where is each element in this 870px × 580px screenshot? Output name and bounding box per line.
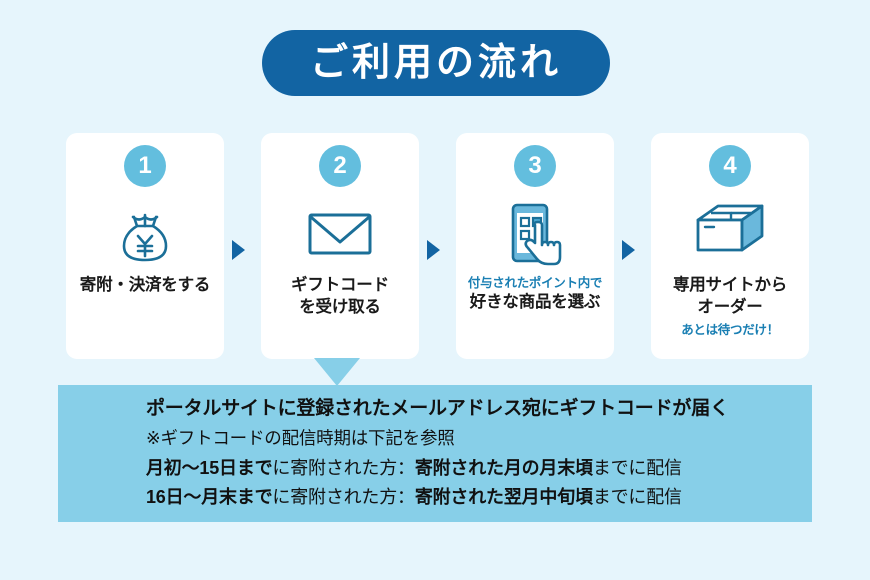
arrow-right-icon-3 — [622, 240, 635, 260]
page-title: ご利用の流れ — [310, 44, 562, 82]
step-card-2[interactable]: 2 ギフトコード を受け取る — [261, 133, 419, 359]
step-labels-3: 付与されたポイント内で 好きな商品を選ぶ — [456, 275, 614, 314]
note-line-2: ※ギフトコードの配信時期は下記を参照 — [146, 430, 812, 448]
step-label-3: 好きな商品を選ぶ — [470, 292, 600, 314]
note-banner: ポータルサイトに登録されたメールアドレス宛にギフトコードが届く ※ギフトコードの… — [58, 385, 812, 522]
smartphone-hand-tap-icon — [499, 195, 571, 271]
step-number-badge-2: 2 — [319, 145, 361, 187]
money-bag-yen-icon — [110, 195, 180, 271]
step-labels-4: 専用サイトから オーダー あとは待つだけ！ — [651, 275, 809, 338]
page-title-pill: ご利用の流れ — [262, 30, 610, 96]
step-labels-2: ギフトコード を受け取る — [261, 275, 419, 319]
note-line-3-normal-b: までに配信 — [593, 458, 682, 478]
note-line-4-bold-a: 16日〜月末まで — [146, 487, 272, 507]
note-line-3-bold-b: 寄附された月の月末頃 — [415, 458, 593, 478]
envelope-icon — [302, 195, 378, 271]
package-box-icon — [690, 195, 770, 271]
step-sublabel-3: 付与されたポイント内で — [468, 275, 602, 291]
step-label-4-line1: 専用サイトから — [673, 275, 787, 297]
note-line-3-bold-a: 月初〜15日まで — [146, 458, 272, 478]
arrow-right-icon-1 — [232, 240, 245, 260]
note-line-1: ポータルサイトに登録されたメールアドレス宛にギフトコードが届く — [146, 399, 812, 418]
note-line-4: 16日〜月末までに寄附された方：寄附された翌月中旬頃までに配信 — [146, 488, 812, 506]
step-number-badge-4: 4 — [709, 145, 751, 187]
step-card-1[interactable]: 1 寄附・決済をする — [66, 133, 224, 359]
arrow-right-icon-2 — [427, 240, 440, 260]
steps-row: 1 寄附・決済をする 2 ギフトコード を受け取る 3 — [0, 133, 870, 359]
step-number-badge-1: 1 — [124, 145, 166, 187]
step-label-2-line2: を受け取る — [299, 297, 381, 319]
step-label-1: 寄附・決済をする — [80, 275, 210, 297]
step-labels-1: 寄附・決済をする — [66, 275, 224, 297]
step-sublabel-4: あとは待つだけ！ — [681, 322, 779, 338]
step-label-2-line1: ギフトコード — [291, 275, 389, 297]
banner-pointer-triangle-icon — [314, 358, 360, 386]
step-label-4-line2: オーダー — [697, 297, 762, 319]
note-line-3-normal-a: に寄附された方： — [272, 458, 414, 478]
note-line-4-normal-b: までに配信 — [593, 487, 682, 507]
step-card-4[interactable]: 4 専用サイトから オーダー あとは待つだけ！ — [651, 133, 809, 359]
note-line-4-bold-b: 寄附された翌月中旬頃 — [415, 487, 593, 507]
note-line-3: 月初〜15日までに寄附された方：寄附された月の月末頃までに配信 — [146, 459, 812, 477]
note-line-4-normal-a: に寄附された方： — [272, 487, 414, 507]
step-number-badge-3: 3 — [514, 145, 556, 187]
step-card-3[interactable]: 3 付与されたポイント内で 好きな商品を選ぶ — [456, 133, 614, 359]
